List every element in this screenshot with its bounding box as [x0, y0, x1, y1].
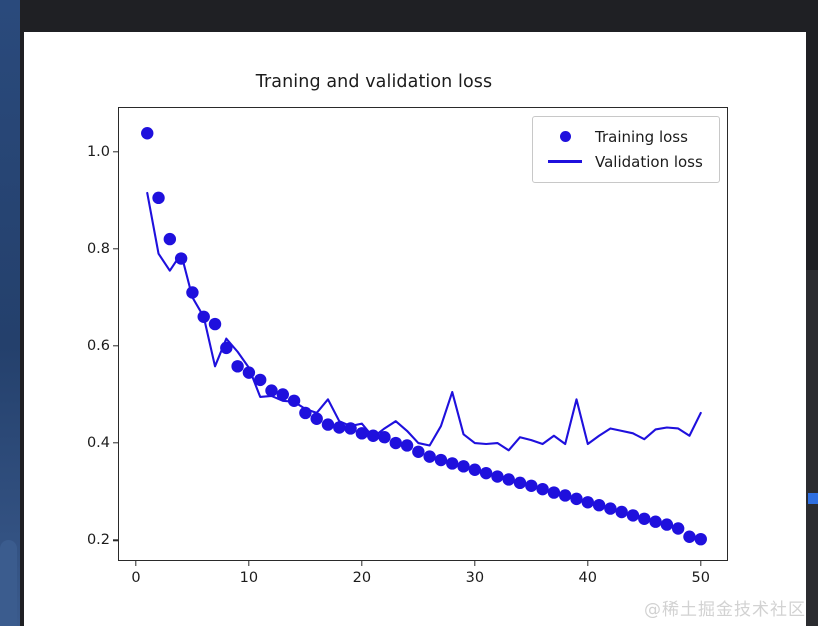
data-point — [695, 533, 707, 545]
data-point — [559, 489, 571, 501]
watermark: @稀土掘金技术社区 — [644, 595, 806, 620]
x-tick-label: 30 — [466, 570, 484, 586]
data-point — [615, 506, 627, 518]
y-tick-label: 1.0 — [87, 144, 110, 160]
data-point — [649, 516, 661, 528]
x-tick-mark — [135, 560, 136, 566]
series-markers-training-loss — [141, 127, 707, 545]
page-title: Traning and validation loss — [24, 72, 724, 92]
desktop-left-strip — [0, 0, 20, 626]
desktop-left-panel[interactable] — [0, 540, 17, 626]
data-point — [401, 439, 413, 451]
data-point — [491, 470, 503, 482]
chart-legend: Training loss Validation loss — [532, 116, 720, 183]
screen: Traning and validation loss Training los… — [0, 0, 818, 626]
x-tick-label: 40 — [579, 570, 597, 586]
data-point — [141, 127, 153, 139]
data-point — [593, 499, 605, 511]
data-point — [548, 486, 560, 498]
y-tick-mark — [113, 442, 119, 443]
data-point — [322, 418, 334, 430]
x-tick-mark — [248, 560, 249, 566]
data-point — [457, 460, 469, 472]
x-tick-label: 10 — [240, 570, 258, 586]
y-tick-mark — [113, 248, 119, 249]
window-titlebar — [20, 0, 818, 32]
plot-axes: Training loss Validation loss 0.20.40.60… — [118, 107, 728, 561]
y-tick-mark — [113, 345, 119, 346]
data-point — [310, 413, 322, 425]
data-point — [503, 473, 515, 485]
x-tick-label: 20 — [353, 570, 371, 586]
data-point — [582, 496, 594, 508]
data-point — [435, 454, 447, 466]
y-tick-label: 0.2 — [87, 532, 110, 548]
data-point — [672, 522, 684, 534]
data-point — [412, 446, 424, 458]
data-point — [231, 360, 243, 372]
series-line-validation-loss — [147, 193, 701, 450]
data-point — [604, 502, 616, 514]
y-tick-mark — [113, 151, 119, 152]
x-tick-mark — [587, 560, 588, 566]
data-point — [536, 483, 548, 495]
x-tick-mark — [700, 560, 701, 566]
legend-item-training[interactable]: Training loss — [543, 124, 709, 149]
y-tick-label: 0.6 — [87, 338, 110, 354]
data-point — [638, 513, 650, 525]
legend-marker-dot-icon — [543, 131, 587, 142]
data-point — [525, 480, 537, 492]
y-tick-mark — [113, 539, 119, 540]
legend-line-icon — [543, 160, 587, 162]
data-point — [446, 457, 458, 469]
x-tick-label: 0 — [131, 570, 140, 586]
x-tick-mark — [361, 560, 362, 566]
legend-label-training: Training loss — [595, 128, 688, 146]
data-point — [390, 437, 402, 449]
y-tick-label: 0.4 — [87, 435, 110, 451]
data-point — [570, 493, 582, 505]
data-point — [514, 477, 526, 489]
data-point — [164, 233, 176, 245]
data-point — [627, 509, 639, 521]
figure-canvas: Traning and validation loss Training los… — [24, 32, 806, 626]
data-point — [480, 467, 492, 479]
data-point — [209, 318, 221, 330]
data-point — [469, 464, 481, 476]
data-point — [423, 450, 435, 462]
y-tick-label: 0.8 — [87, 241, 110, 257]
data-point — [661, 518, 673, 530]
x-tick-mark — [474, 560, 475, 566]
data-point — [152, 192, 164, 204]
legend-item-validation[interactable]: Validation loss — [543, 149, 709, 174]
right-side-panel-upper — [806, 0, 818, 270]
x-tick-label: 50 — [692, 570, 710, 586]
scrollbar-thumb[interactable] — [808, 493, 818, 504]
matplotlib-figure: Traning and validation loss Training los… — [24, 32, 806, 626]
data-point — [683, 531, 695, 543]
legend-label-validation: Validation loss — [595, 153, 703, 171]
